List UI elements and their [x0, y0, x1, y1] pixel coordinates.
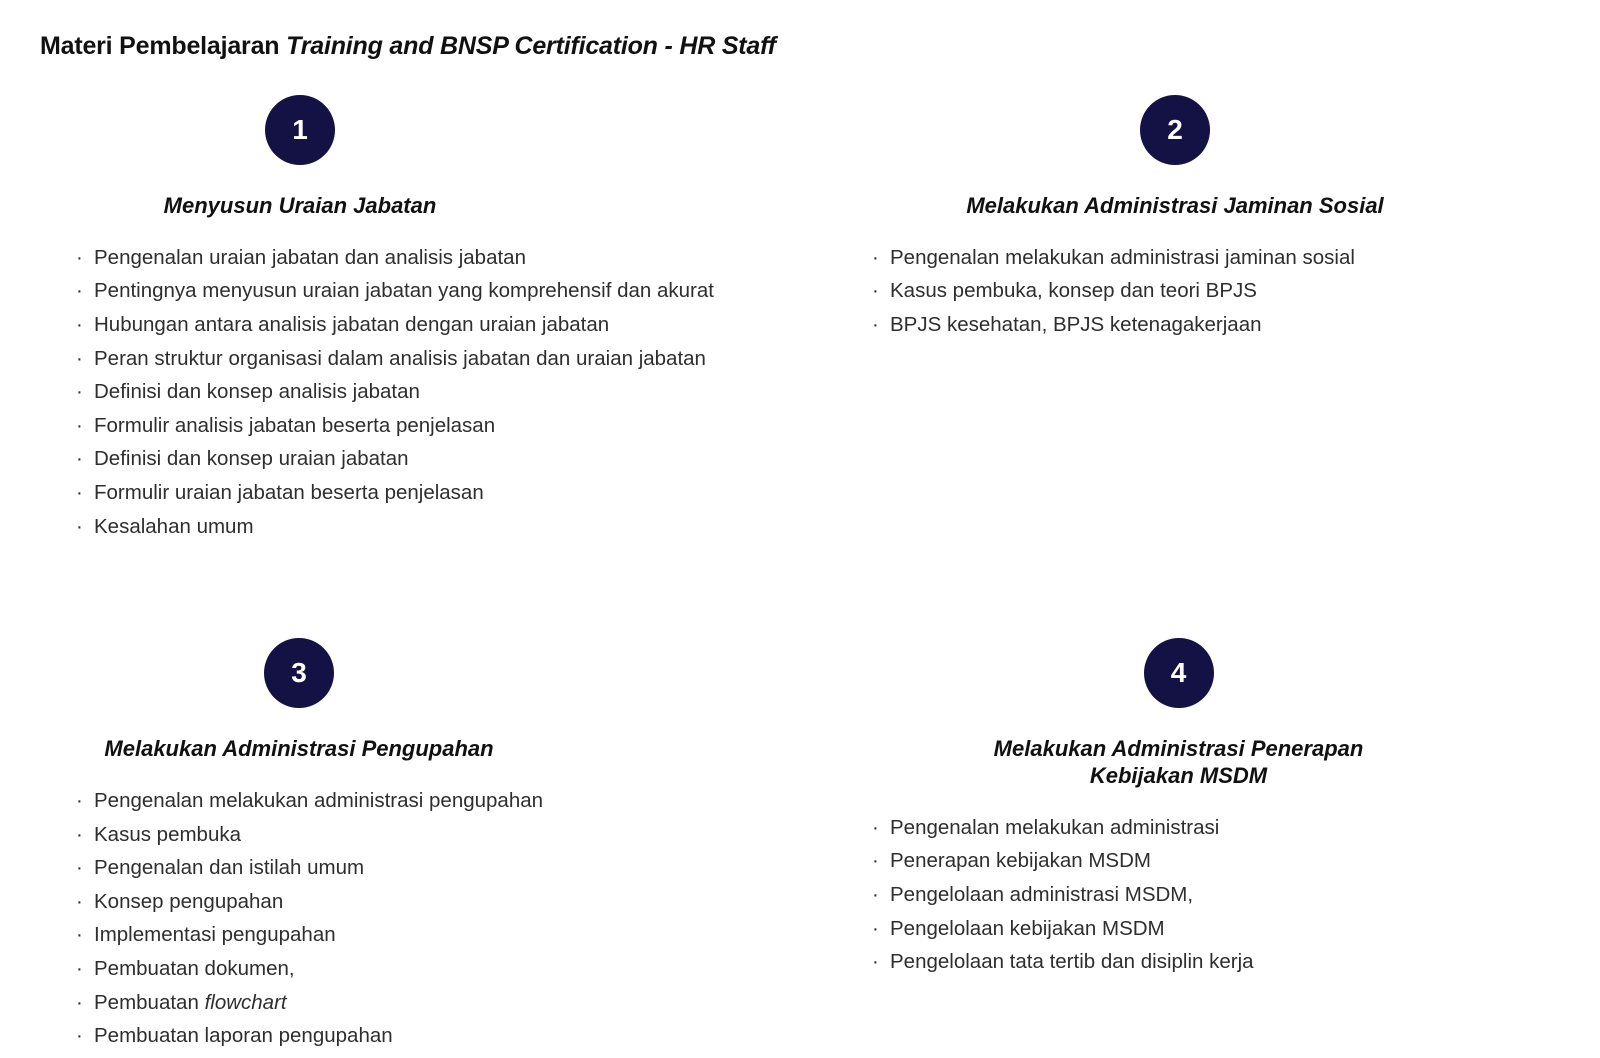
section-1-number-badge: 1: [265, 95, 335, 165]
bullet-dot-icon: ·: [76, 380, 94, 405]
list-item: ·Pengelolaan tata tertib dan disiplin ke…: [872, 950, 1580, 975]
bullet-dot-icon: ·: [76, 481, 94, 506]
bullet-dot-icon: ·: [76, 991, 94, 1016]
list-item: ·Pengenalan dan istilah umum: [76, 856, 790, 881]
list-item: ·Pembuatan flowchart: [76, 991, 790, 1016]
bullet-dot-icon: ·: [76, 279, 94, 304]
bullet-dot-icon: ·: [76, 447, 94, 472]
list-item-label-italic: Pembuatan flowchart: [94, 991, 287, 1016]
bullet-dot-icon: ·: [76, 1024, 94, 1049]
section-4: 4 Melakukan Administrasi Penerapan Kebij…: [800, 638, 1600, 1058]
list-item-label: Peran struktur organisasi dalam analisis…: [94, 347, 706, 372]
list-item: ·Kesalahan umum: [76, 515, 790, 540]
list-item: ·Implementasi pengupahan: [76, 923, 790, 948]
page-title: Materi Pembelajaran Training and BNSP Ce…: [40, 32, 776, 61]
bullet-dot-icon: ·: [76, 890, 94, 915]
section-2-heading: Melakukan Administrasi Jaminan Sosial: [855, 193, 1580, 220]
list-item: ·Kasus pembuka, konsep dan teori BPJS: [872, 279, 1580, 304]
list-item-label: Konsep pengupahan: [94, 890, 283, 915]
bullet-dot-icon: ·: [76, 515, 94, 540]
bullet-dot-icon: ·: [76, 923, 94, 948]
section-2-bullet-list: ·Pengenalan melakukan administrasi jamin…: [872, 246, 1580, 338]
list-item: ·Hubungan antara analisis jabatan dengan…: [76, 313, 790, 338]
bullet-dot-icon: ·: [872, 246, 890, 271]
list-item: ·Pentingnya menyusun uraian jabatan yang…: [76, 279, 790, 304]
section-1-bullet-list: ·Pengenalan uraian jabatan dan analisis …: [76, 246, 790, 539]
list-item: ·Pengenalan melakukan administrasi jamin…: [872, 246, 1580, 271]
bullet-dot-icon: ·: [872, 279, 890, 304]
list-item-label: Kesalahan umum: [94, 515, 254, 540]
list-item: ·Pengelolaan kebijakan MSDM: [872, 917, 1580, 942]
list-item: ·Kasus pembuka: [76, 823, 790, 848]
list-item-label: Pengenalan melakukan administrasi jamina…: [890, 246, 1355, 271]
list-item-label: Hubungan antara analisis jabatan dengan …: [94, 313, 609, 338]
list-item: ·Pengenalan melakukan administrasi: [872, 816, 1580, 841]
list-item-label: Implementasi pengupahan: [94, 923, 336, 948]
list-item: ·Pengenalan melakukan administrasi pengu…: [76, 789, 790, 814]
section-2-number-badge: 2: [1140, 95, 1210, 165]
list-item-label: Pengenalan dan istilah umum: [94, 856, 364, 881]
sections-row-1: 1 Menyusun Uraian Jabatan ·Pengenalan ur…: [0, 95, 1600, 548]
section-4-heading-line-2: Kebijakan MSDM: [855, 763, 1502, 790]
section-2: 2 Melakukan Administrasi Jaminan Sosial …: [800, 95, 1600, 548]
list-item: ·Pengenalan uraian jabatan dan analisis …: [76, 246, 790, 271]
bullet-dot-icon: ·: [872, 849, 890, 874]
section-4-heading: Melakukan Administrasi Penerapan Kebijak…: [855, 736, 1580, 790]
section-1-badge-wrap: 1: [40, 95, 790, 165]
list-item: ·Konsep pengupahan: [76, 890, 790, 915]
list-item-label: Pengelolaan administrasi MSDM,: [890, 883, 1193, 908]
bullet-dot-icon: ·: [872, 816, 890, 841]
section-4-bullet-list: ·Pengenalan melakukan administrasi ·Pene…: [872, 816, 1580, 975]
page-title-italic: Training and BNSP Certification - HR Sta…: [286, 32, 776, 60]
page-title-plain: Materi Pembelajaran: [40, 32, 286, 60]
list-item: ·Formulir uraian jabatan beserta penjela…: [76, 481, 790, 506]
section-3: 3 Melakukan Administrasi Pengupahan ·Pen…: [0, 638, 800, 1058]
sections-row-2: 3 Melakukan Administrasi Pengupahan ·Pen…: [0, 638, 1600, 1058]
list-item-label: Pengenalan uraian jabatan dan analisis j…: [94, 246, 526, 271]
list-item: ·Pengelolaan administrasi MSDM,: [872, 883, 1580, 908]
bullet-dot-icon: ·: [76, 246, 94, 271]
bullet-dot-icon: ·: [872, 950, 890, 975]
list-item-label: Pembuatan laporan pengupahan: [94, 1024, 393, 1049]
list-item-label: Formulir uraian jabatan beserta penjelas…: [94, 481, 484, 506]
bullet-dot-icon: ·: [76, 313, 94, 338]
list-item-label: Pembuatan dokumen,: [94, 957, 295, 982]
sections-grid: 1 Menyusun Uraian Jabatan ·Pengenalan ur…: [0, 95, 1600, 1058]
slide-page: Materi Pembelajaran Training and BNSP Ce…: [0, 0, 1600, 957]
bullet-dot-icon: ·: [872, 883, 890, 908]
bullet-dot-icon: ·: [872, 313, 890, 338]
section-3-badge-wrap: 3: [40, 638, 790, 708]
list-item: ·BPJS kesehatan, BPJS ketenagakerjaan: [872, 313, 1580, 338]
bullet-dot-icon: ·: [76, 823, 94, 848]
list-item-label: Penerapan kebijakan MSDM: [890, 849, 1151, 874]
list-item-label: Formulir analisis jabatan beserta penjel…: [94, 414, 495, 439]
list-item: ·Peran struktur organisasi dalam analisi…: [76, 347, 790, 372]
section-1: 1 Menyusun Uraian Jabatan ·Pengenalan ur…: [0, 95, 800, 548]
list-item-label: Definisi dan konsep analisis jabatan: [94, 380, 420, 405]
section-3-bullet-list: ·Pengenalan melakukan administrasi pengu…: [76, 789, 790, 1049]
list-item-label: Pengelolaan kebijakan MSDM: [890, 917, 1165, 942]
list-item-label: Pengenalan melakukan administrasi: [890, 816, 1219, 841]
list-item: ·Pembuatan dokumen,: [76, 957, 790, 982]
bullet-dot-icon: ·: [76, 347, 94, 372]
list-item-label: BPJS kesehatan, BPJS ketenagakerjaan: [890, 313, 1262, 338]
bullet-dot-icon: ·: [76, 789, 94, 814]
list-item-label: Pengenalan melakukan administrasi pengup…: [94, 789, 543, 814]
section-4-number-badge: 4: [1144, 638, 1214, 708]
section-4-heading-line-1: Melakukan Administrasi Penerapan: [855, 736, 1502, 763]
list-item-label: Kasus pembuka: [94, 823, 241, 848]
section-4-badge-wrap: 4: [855, 638, 1580, 708]
list-item-label: Pentingnya menyusun uraian jabatan yang …: [94, 279, 714, 304]
list-item: ·Definisi dan konsep uraian jabatan: [76, 447, 790, 472]
list-item: ·Pembuatan laporan pengupahan: [76, 1024, 790, 1049]
list-item: ·Definisi dan konsep analisis jabatan: [76, 380, 790, 405]
list-item: ·Penerapan kebijakan MSDM: [872, 849, 1580, 874]
section-3-number-badge: 3: [264, 638, 334, 708]
bullet-dot-icon: ·: [872, 917, 890, 942]
bullet-dot-icon: ·: [76, 856, 94, 881]
list-item-label: Pengelolaan tata tertib dan disiplin ker…: [890, 950, 1254, 975]
bullet-dot-icon: ·: [76, 414, 94, 439]
list-item-label: Kasus pembuka, konsep dan teori BPJS: [890, 279, 1257, 304]
bullet-dot-icon: ·: [76, 957, 94, 982]
section-1-heading: Menyusun Uraian Jabatan: [40, 193, 790, 220]
list-item-label: Definisi dan konsep uraian jabatan: [94, 447, 409, 472]
section-2-badge-wrap: 2: [855, 95, 1580, 165]
section-3-heading: Melakukan Administrasi Pengupahan: [40, 736, 790, 763]
list-item: ·Formulir analisis jabatan beserta penje…: [76, 414, 790, 439]
